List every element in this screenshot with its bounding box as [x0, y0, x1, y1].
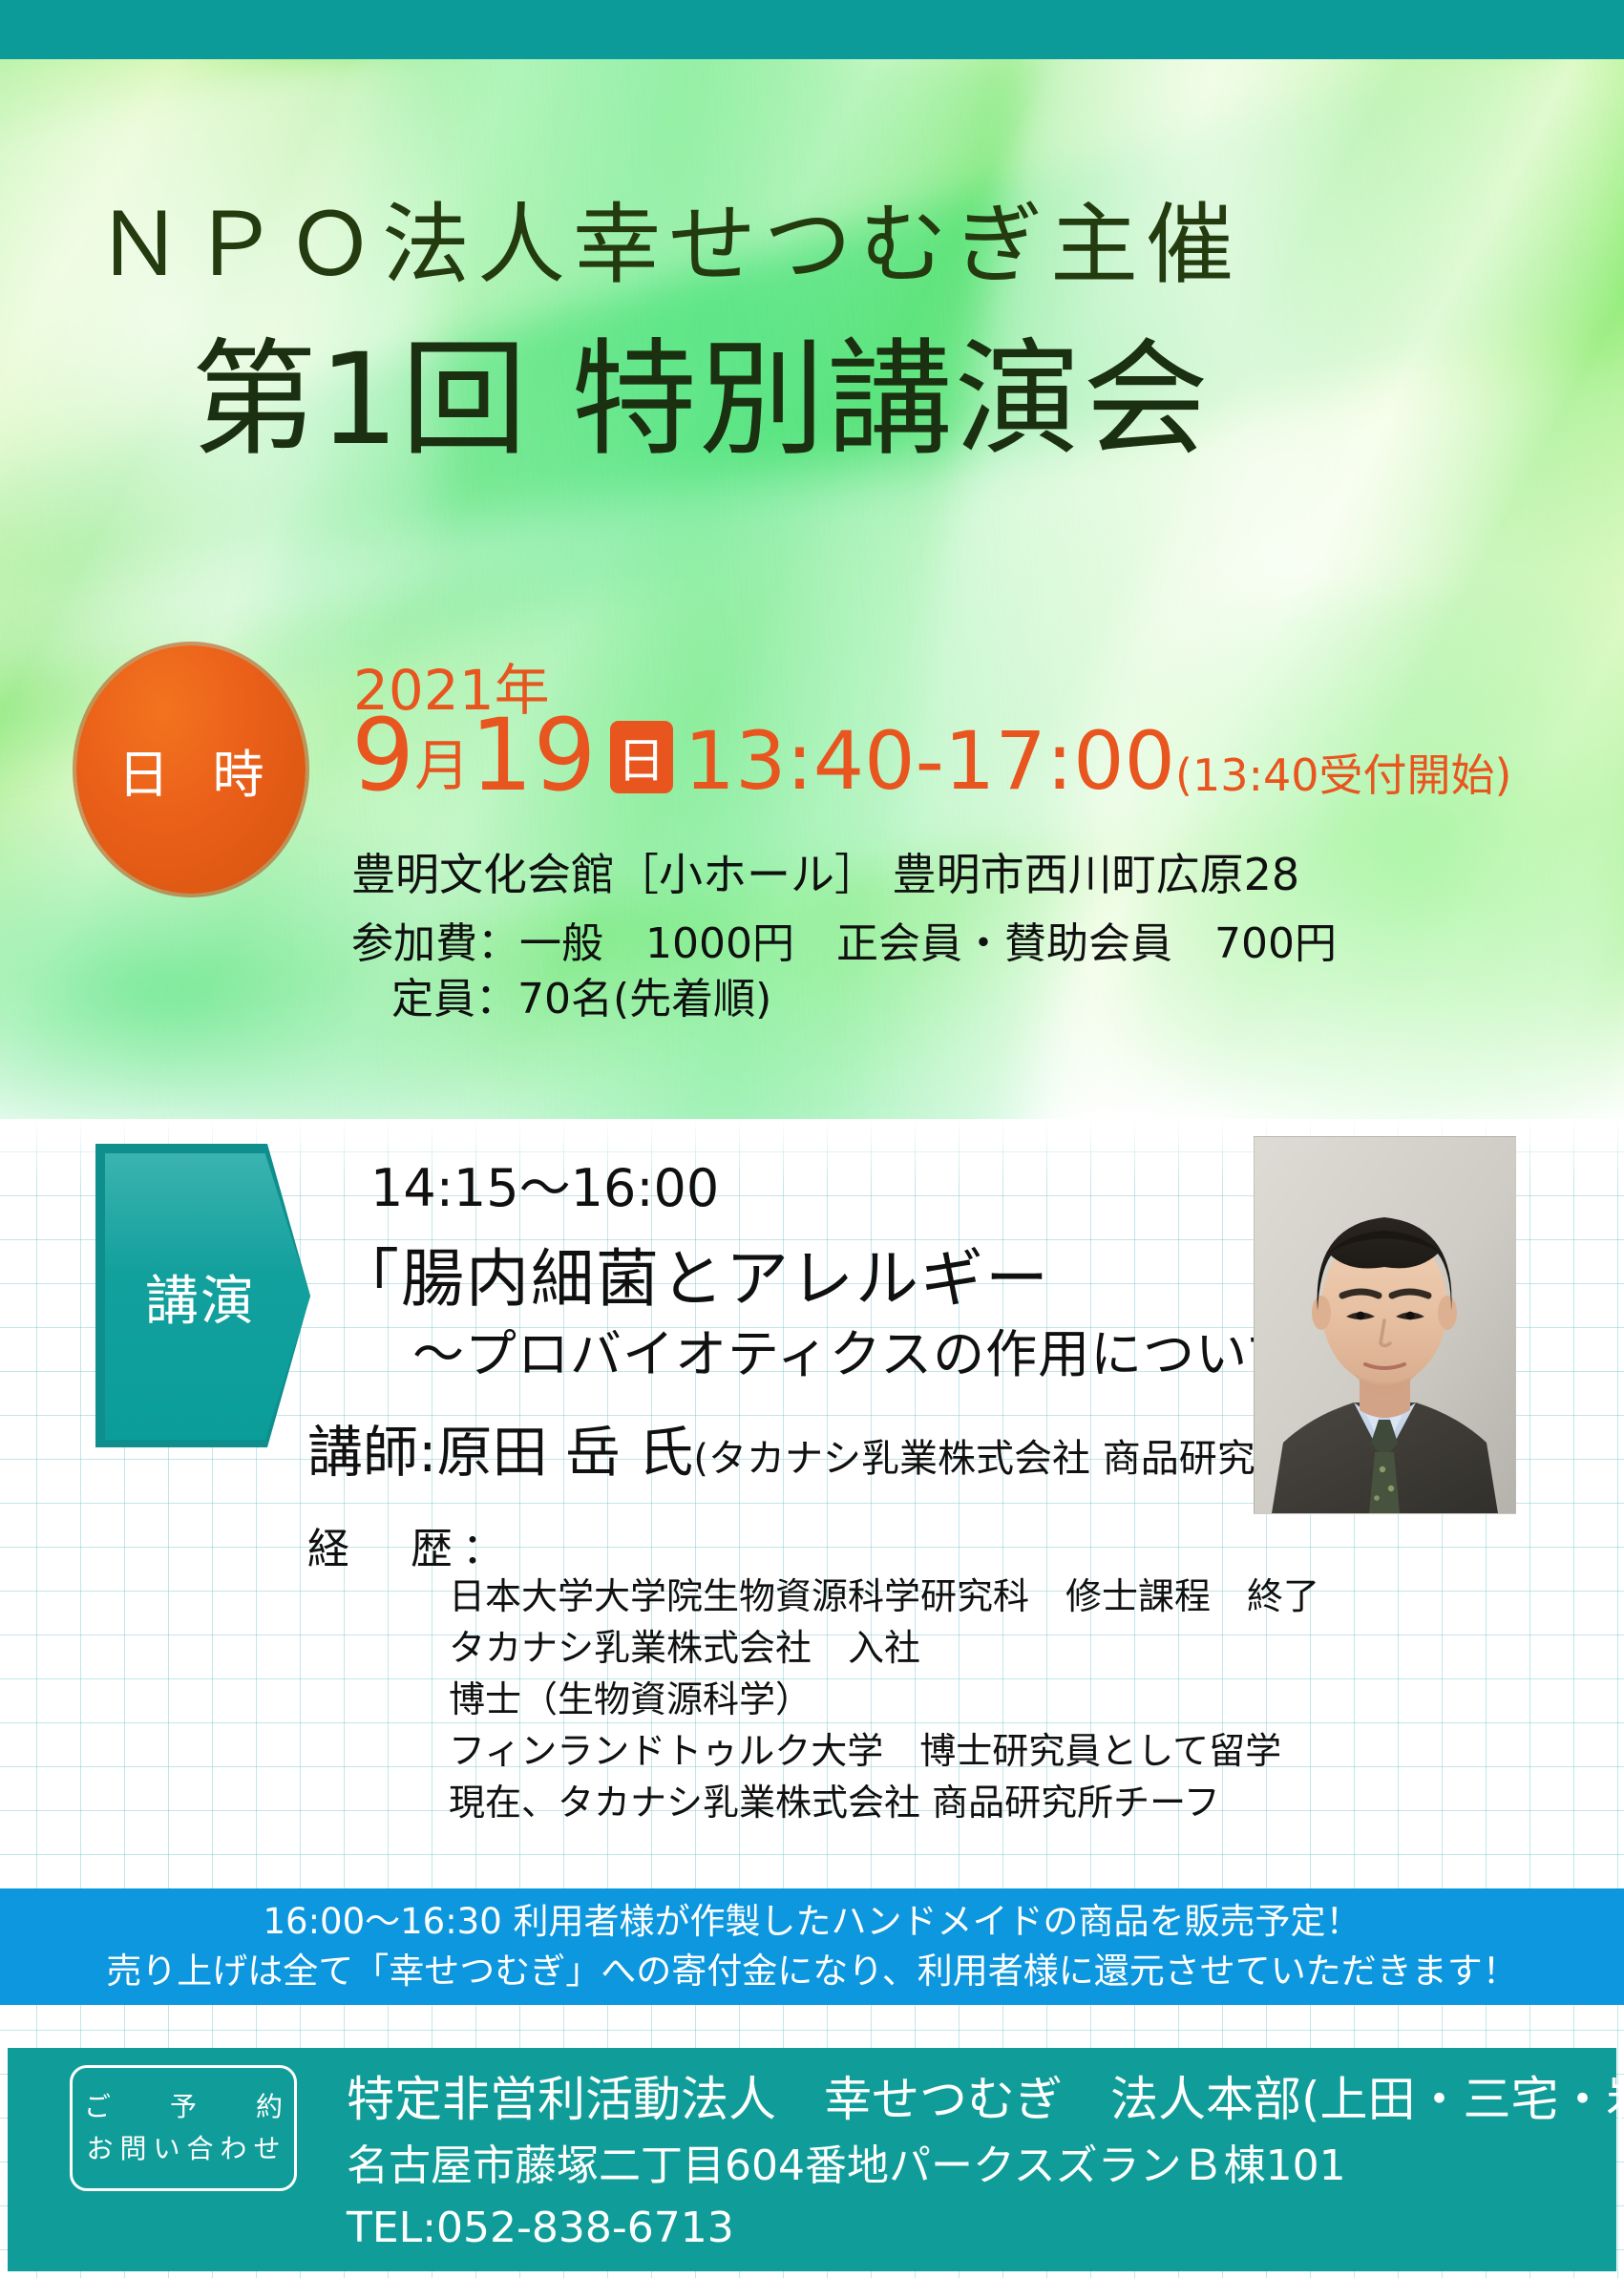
bio-item: 博士（生物資源科学）: [449, 1674, 1319, 1725]
venue-line: 豊明文化会館［小ホール］ 豊明市西川町広原28: [351, 840, 1299, 903]
datetime-badge: 日 時: [76, 645, 306, 894]
fee-line: 参加費：一般 1000円 正会員・賛助会員 700円: [351, 909, 1337, 970]
lecture-badge: 講演: [95, 1144, 310, 1447]
capacity-line: 定員：70名(先着順): [391, 964, 771, 1025]
reservation-box-line1: ご 予 約: [68, 2086, 299, 2128]
page-title: 第1回 特別講演会: [191, 298, 1211, 480]
event-date-line: 9 月 19 日 13:40-17:00 (13:40受付開始): [351, 708, 1511, 803]
bio-item: 現在、タカナシ乳業株式会社 商品研究所チーフ: [449, 1777, 1319, 1828]
organization-phone: TEL:052-838-6713: [347, 2199, 1624, 2258]
handmade-sale-banner: 16:00〜16:30 利用者様が作製したハンドメイドの商品を販売予定！ 売り上…: [0, 1888, 1624, 2005]
sale-banner-line1: 16:00〜16:30 利用者様が作製したハンドメイドの商品を販売予定！: [263, 1897, 1360, 1947]
lecture-title-line1: 「腸内細菌とアレルギー: [336, 1228, 1050, 1319]
bio-label: 経 歴：: [307, 1514, 514, 1575]
organization-name: 特定非営利活動法人 幸せつむぎ 法人本部(上田・三宅・岩垂): [347, 2065, 1624, 2134]
top-accent-bar: [0, 0, 1624, 59]
speaker-name: 講師:原田 岳 氏: [307, 1420, 693, 1485]
bio-item: 日本大学大学院生物資源科学研究科 修士課程 終了: [449, 1571, 1319, 1622]
event-month: 9: [351, 708, 414, 803]
bio-list: 日本大学大学院生物資源科学研究科 修士課程 終了 タカナシ乳業株式会社 入社 博…: [449, 1571, 1319, 1828]
sale-banner-line2: 売り上げは全て「幸せつむぎ」への寄付金になり、利用者様に還元させていただきます！: [106, 1947, 1518, 1996]
event-day: 19: [470, 708, 596, 803]
reservation-box: ご 予 約 お問い合わせ: [70, 2065, 297, 2191]
speaker-portrait-photo: [1254, 1136, 1516, 1514]
portrait-illustration: [1255, 1137, 1515, 1513]
organization-address: 名古屋市藤塚二丁目604番地パークスズランＢ棟101: [347, 2134, 1624, 2199]
datetime-badge-label: 日 時: [104, 732, 277, 808]
event-poster: ＮＰＯ法人幸せつむぎ主催 第1回 特別講演会 日 時 2021年 9 月 19 …: [0, 0, 1624, 2278]
bio-item: タカナシ乳業株式会社 入社: [449, 1622, 1319, 1674]
event-month-unit: 月: [414, 738, 470, 803]
contact-details: 特定非営利活動法人 幸せつむぎ 法人本部(上田・三宅・岩垂) 名古屋市藤塚二丁目…: [347, 2065, 1624, 2258]
event-weekday-badge: 日: [610, 721, 673, 793]
contact-footer: ご 予 約 お問い合わせ 特定非営利活動法人 幸せつむぎ 法人本部(上田・三宅・…: [8, 2048, 1616, 2271]
bio-item: フィンランドトゥルク大学 博士研究員として留学: [449, 1725, 1319, 1777]
event-reception-note: (13:40受付開始): [1175, 753, 1511, 803]
reservation-box-line2: お問い合わせ: [79, 2128, 286, 2170]
lecture-time: 14:15〜16:00: [370, 1146, 719, 1221]
organizer-line: ＮＰＯ法人幸せつむぎ主催: [95, 174, 1241, 301]
event-time-range: 13:40-17:00: [685, 721, 1175, 803]
lecture-badge-label: 講演: [145, 1258, 256, 1336]
